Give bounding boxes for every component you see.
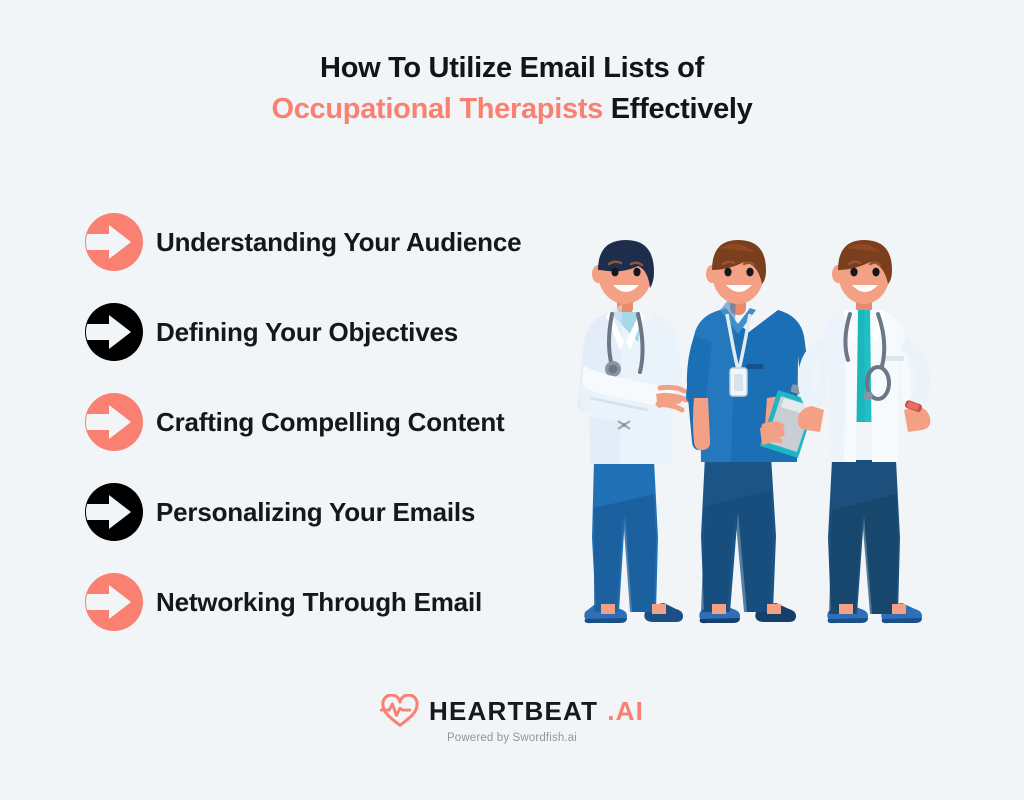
arrow-right-circle-icon: [84, 392, 144, 452]
list-item-label: Defining Your Objectives: [156, 317, 458, 348]
logo-wordmark: HEARTBEAT: [429, 696, 598, 727]
doctor-lab-coat-arms-crossed: [578, 240, 686, 623]
list-item[interactable]: Understanding Your Audience: [84, 197, 604, 287]
logo-row: HEARTBEAT.AI: [380, 694, 644, 728]
list-item-label: Personalizing Your Emails: [156, 497, 475, 528]
title-line-1: How To Utilize Email Lists of: [0, 48, 1024, 89]
logo-suffix: .AI: [607, 696, 644, 727]
list-item-label: Crafting Compelling Content: [156, 407, 504, 438]
title-accent-text: Occupational Therapists: [271, 93, 603, 125]
title-line-2: Occupational Therapists Effectively: [0, 89, 1024, 130]
doctor-lab-coat-hands-on-hips: [798, 240, 931, 623]
list-item[interactable]: Personalizing Your Emails: [84, 467, 604, 557]
three-medical-professionals-illustration: [560, 238, 980, 638]
list-item[interactable]: Networking Through Email: [84, 557, 604, 647]
steps-list: Understanding Your Audience Defining You…: [84, 197, 604, 647]
page-title: How To Utilize Email Lists of Occupation…: [0, 48, 1024, 130]
title-rest-text: Effectively: [603, 93, 753, 125]
brand-logo: HEARTBEAT.AI Powered by Swordfish.ai: [0, 694, 1024, 744]
arrow-right-circle-icon: [84, 572, 144, 632]
nurse-blue-scrubs-clipboard: [686, 240, 816, 623]
arrow-right-circle-icon: [84, 302, 144, 362]
list-item[interactable]: Crafting Compelling Content: [84, 377, 604, 467]
arrow-right-circle-icon: [84, 212, 144, 272]
infographic-page: How To Utilize Email Lists of Occupation…: [0, 0, 1024, 800]
list-item[interactable]: Defining Your Objectives: [84, 287, 604, 377]
list-item-label: Networking Through Email: [156, 587, 482, 618]
list-item-label: Understanding Your Audience: [156, 227, 521, 258]
arrow-right-circle-icon: [84, 482, 144, 542]
heartbeat-pulse-icon: [380, 694, 420, 728]
logo-tagline: Powered by Swordfish.ai: [447, 732, 577, 744]
